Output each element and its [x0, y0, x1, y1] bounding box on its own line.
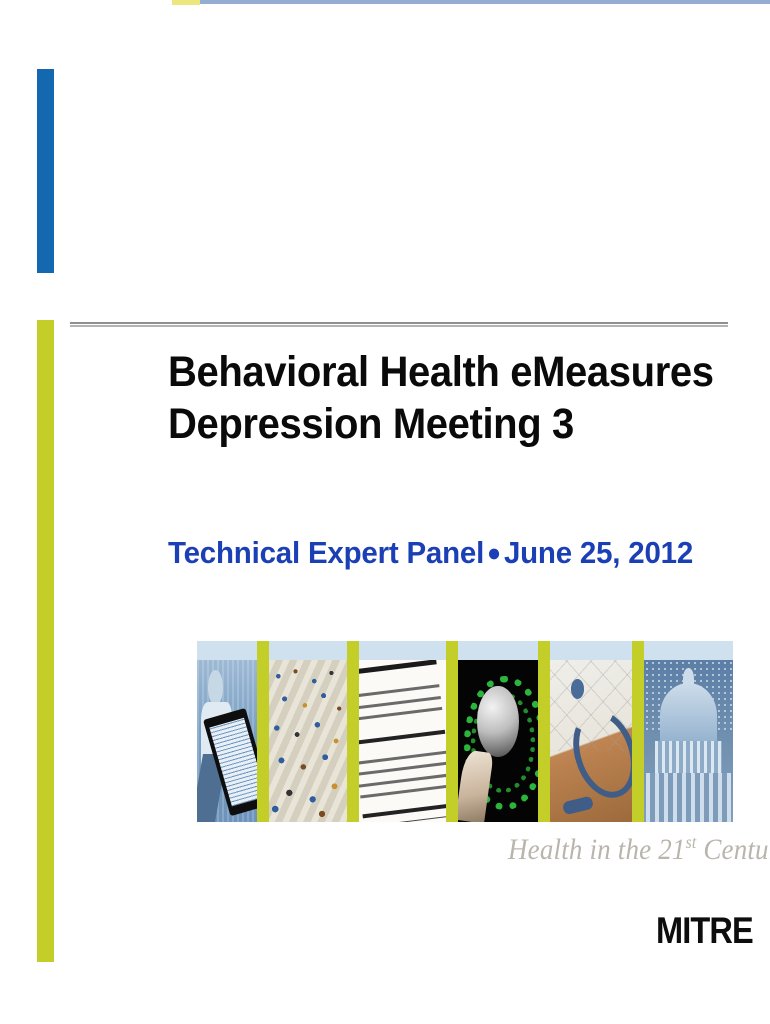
collage-divider-3 — [446, 641, 458, 822]
capitol-colonnade-shape — [655, 741, 723, 777]
title-rule-upper-line — [70, 322, 728, 324]
collage-panel-binary-code-globe — [458, 641, 538, 822]
form-text-line — [359, 762, 446, 776]
panel-sky-band — [269, 641, 347, 660]
page-title: Behavioral Health eMeasures Depression M… — [168, 346, 748, 450]
collage-panel-medicaid-application-form — [359, 641, 446, 822]
left-green-accent-bar — [37, 320, 54, 962]
collage-panel-stethoscope-on-bed — [550, 641, 632, 822]
binary-code-globe-image — [458, 660, 538, 822]
title-line-2: Depression Meeting 3 — [168, 398, 707, 450]
form-text-line — [359, 751, 446, 765]
panel-sky-band — [359, 641, 446, 660]
collage-divider-5 — [632, 641, 644, 822]
top-rule-yellow-segment — [172, 0, 200, 5]
collage-panel-clinician-with-tablet — [197, 641, 257, 822]
form-text-line — [359, 773, 446, 787]
stethoscope-earpiece-shape — [562, 796, 594, 816]
top-decorative-rule — [172, 0, 770, 5]
panel-sky-band — [197, 641, 257, 660]
panel-sky-band — [644, 641, 733, 660]
person-head-shape — [208, 670, 224, 706]
top-rule-blue-segment — [200, 0, 770, 4]
photo-collage — [197, 641, 733, 822]
collage-divider-1 — [257, 641, 269, 822]
medicaid-application-form-image — [359, 660, 446, 822]
subtitle-panel-label: Technical Expert Panel — [168, 535, 484, 570]
collage-panel-crowded-hall-aerial — [269, 641, 347, 822]
subtitle: Technical Expert Panel●June 25, 2012 — [168, 534, 693, 572]
tagline-tail-text: Century — [696, 833, 770, 866]
crowd-dots-shape — [269, 660, 347, 822]
title-separator-rule — [70, 322, 728, 327]
tagline-main-text: Health in the 2 — [508, 833, 672, 866]
title-rule-lower-line — [70, 325, 728, 327]
mitre-logo: MITRE — [656, 911, 753, 951]
tagline: Health in the 21st Century — [508, 832, 770, 867]
collage-divider-4 — [538, 641, 550, 822]
us-capitol-dome-image — [644, 660, 733, 822]
form-document-shape — [359, 660, 446, 822]
crowded-hall-aerial-image — [269, 660, 347, 822]
panel-sky-band — [550, 641, 632, 660]
clinician-with-tablet-image — [197, 660, 257, 822]
capitol-dome-shape — [660, 683, 717, 748]
subtitle-date: June 25, 2012 — [504, 535, 693, 570]
form-section-line — [363, 804, 446, 819]
bullet-separator-icon: ● — [484, 539, 504, 567]
left-blue-accent-bar — [37, 69, 54, 273]
globe-shape — [477, 686, 519, 757]
stethoscope-on-bed-image — [550, 660, 632, 822]
form-text-line — [359, 707, 442, 721]
capitol-base-shape — [646, 773, 731, 822]
form-header-line — [359, 660, 437, 675]
panel-sky-band — [458, 641, 538, 660]
hand-shape — [458, 749, 493, 822]
form-text-line — [360, 785, 446, 799]
form-text-line-bold — [359, 730, 445, 745]
collage-divider-2 — [347, 641, 359, 822]
tagline-ordinal-suffix: st — [686, 832, 697, 852]
title-line-1: Behavioral Health eMeasures — [168, 346, 707, 398]
tagline-number: 1 — [672, 833, 686, 866]
collage-panel-us-capitol-dome — [644, 641, 733, 822]
